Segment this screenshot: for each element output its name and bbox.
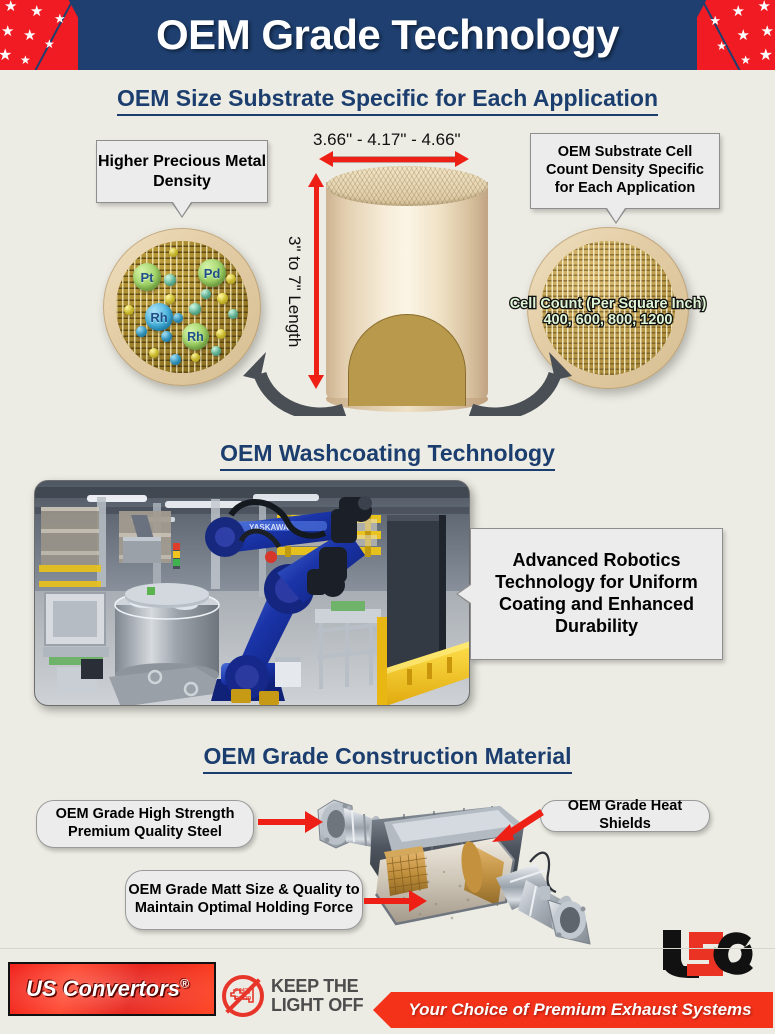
particle-rh-blue: Rh [145,303,173,331]
particle-dot [216,329,226,339]
footer-divider [0,948,775,949]
particle-rh-blue-label: Rh [150,310,167,325]
page-title: OEM Grade Technology [0,0,775,70]
usc-logo [659,928,757,980]
particle-dot [124,305,134,315]
particle-dot [136,326,147,337]
dimension-label-diameter: 3.66" - 4.17" - 4.66" [313,130,461,150]
callout-heat-shields-text: OEM Grade Heat Shields [541,798,709,833]
section-title-substrate: OEM Size Substrate Specific for Each App… [0,85,775,112]
particle-pd: Pd [198,259,226,287]
particle-dot [191,353,200,362]
dimension-arrow-diameter [332,157,456,162]
callout-advanced-robotics-text: Advanced Robotics Technology for Uniform… [481,550,712,638]
section-title-washcoating-text: OEM Washcoating Technology [220,440,555,471]
red-arrow-matt [364,898,410,904]
brand-name: US Convertors [26,976,180,1001]
washcoating-robot-photo: YASKAWA [34,480,470,706]
section-title-construction: OEM Grade Construction Material [0,743,775,770]
particle-dot [173,313,183,323]
callout-matt-size-text: OEM Grade Matt Size & Quality to Maintai… [126,882,362,917]
particle-dot [189,303,201,315]
no-check-engine-light-icon: P0420 P0430 [222,975,264,1017]
tagline-text: Your Choice of Premium Exhaust Systems [394,1000,751,1020]
callout-tail-left-inner [173,202,191,216]
keep-the-light-off-badge: P0420 P0430 KEEP THE LIGHT OFF [222,975,363,1017]
section-title-construction-text: OEM Grade Construction Material [203,743,571,774]
section-title-washcoating: OEM Washcoating Technology [0,440,775,467]
particle-dot [228,309,238,319]
magnified-view-precious-metals: Pt Pd Rh Rh [103,228,261,386]
particle-dot [149,348,159,358]
particle-dot [170,354,181,365]
red-arrow-steel [258,819,306,825]
callout-tail-robotics-inner [458,585,471,603]
particle-dot [161,331,172,342]
us-convertors-banner: US Convertors® [8,962,216,1016]
callout-high-strength-steel-text: OEM Grade High Strength Premium Quality … [37,806,253,841]
cell-count-overlay: Cell Count (Per Square Inch) 400, 600, 8… [497,296,719,328]
page-header: ★ ★ ★ ★ ★ ★ ★ ★ ★ ★ ★ ★ ★ ★ ★ ★ OEM Grad… [0,0,775,70]
callout-precious-metal-density-text: Higher Precious Metal Density [97,152,267,191]
callout-cell-count-density: OEM Substrate Cell Count Density Specifi… [530,133,720,209]
particle-dot [165,294,175,304]
keep-the-light-off-line2: LIGHT OFF [271,996,363,1015]
particle-dot [169,248,178,257]
callout-matt-size: OEM Grade Matt Size & Quality to Maintai… [125,870,363,930]
particle-dot [164,274,176,286]
particle-pd-label: Pd [204,266,221,281]
callout-cell-count-density-text: OEM Substrate Cell Count Density Specifi… [539,144,711,197]
callout-tail-right-inner [607,208,625,222]
cell-count-title: Cell Count (Per Square Inch) [497,296,719,312]
particle-rh-green: Rh [182,323,209,350]
registered-mark: ® [180,977,189,991]
particle-rh-green-label: Rh [187,330,204,344]
curved-arrow-to-right-magnifier [463,330,575,416]
particle-dot [226,274,236,284]
callout-high-strength-steel: OEM Grade High Strength Premium Quality … [36,800,254,848]
particle-dot [211,346,221,356]
particle-dot [217,293,228,304]
keep-the-light-off-line1: KEEP THE [271,977,363,996]
tagline-banner: Your Choice of Premium Exhaust Systems [373,992,773,1028]
curved-arrow-to-left-magnifier [240,330,350,416]
callout-heat-shields: OEM Grade Heat Shields [540,800,710,832]
particle-pt: Pt [133,263,161,291]
particle-pt-label: Pt [141,270,154,285]
particle-dot [201,289,211,299]
cell-count-values: 400, 600, 800, 1200 [497,312,719,328]
substrate-top-face [326,166,488,206]
red-arrow-heat-shields [488,806,546,846]
callout-advanced-robotics: Advanced Robotics Technology for Uniform… [470,528,723,660]
section-title-substrate-text: OEM Size Substrate Specific for Each App… [117,85,658,116]
callout-precious-metal-density: Higher Precious Metal Density [96,140,268,203]
